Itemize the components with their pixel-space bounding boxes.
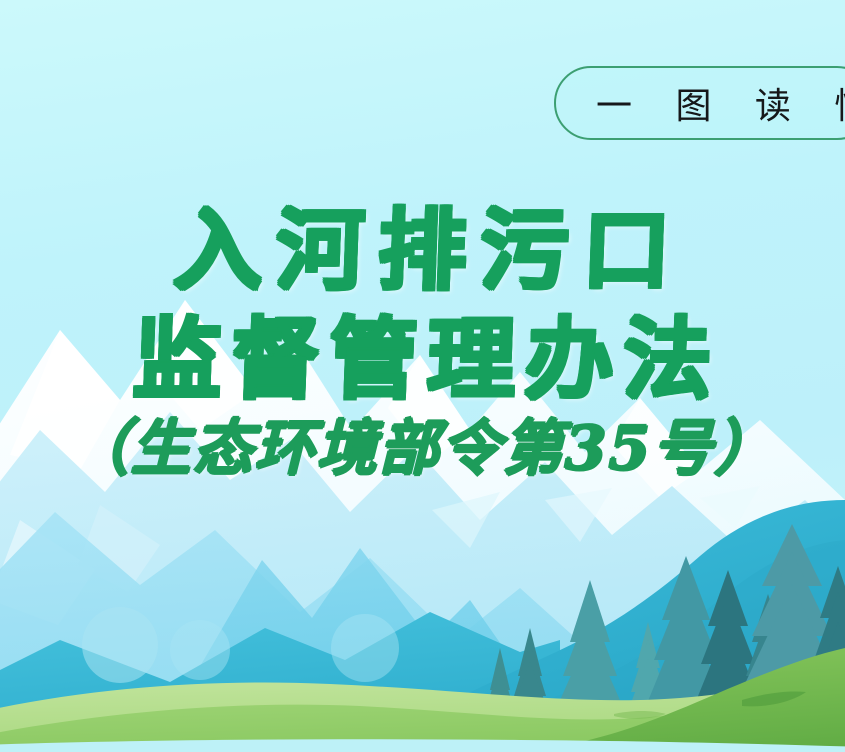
cloud-blob-1: [82, 607, 158, 683]
cloud-blob-3: [331, 614, 399, 682]
read-in-one-picture-badge[interactable]: 一 图 读 懂: [554, 66, 845, 140]
poster-canvas: 一 图 读 懂 入河排污口 监督管理办法 （生态环境部令第35号）: [0, 0, 845, 752]
cloud-blob-2: [170, 620, 230, 680]
badge-label: 一 图 读 懂: [596, 77, 845, 129]
